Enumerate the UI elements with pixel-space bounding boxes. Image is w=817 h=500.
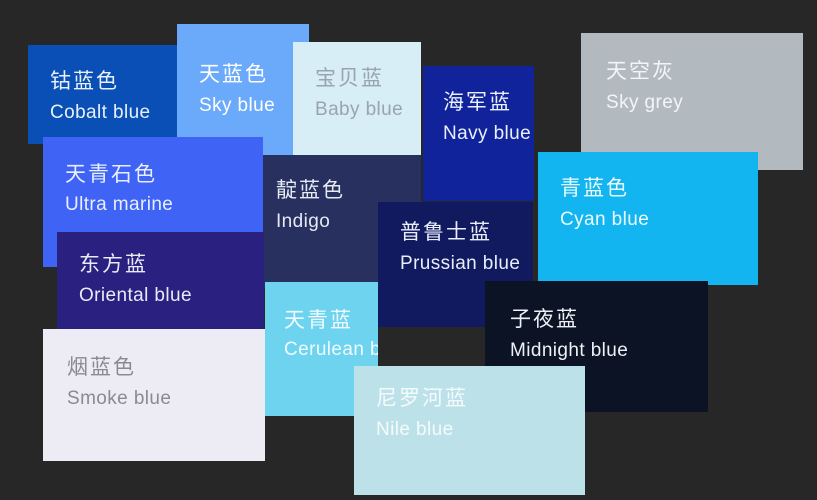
swatch-name-en: Ultra marine [65, 195, 173, 214]
swatch-name-en: Midnight blue [510, 341, 628, 360]
swatch-name-cn: 海军蓝 [443, 92, 512, 113]
swatch-name-cn: 天空灰 [606, 61, 675, 82]
swatch-name-cn: 天蓝色 [199, 64, 268, 85]
color-swatch-smoke-blue[interactable]: 烟蓝色Smoke blue [43, 329, 265, 461]
color-swatch-sky-grey[interactable]: 天空灰Sky grey [581, 33, 803, 170]
swatch-name-cn: 子夜蓝 [510, 309, 579, 330]
color-swatch-nile-blue[interactable]: 尼罗河蓝Nile blue [354, 366, 585, 495]
swatch-name-cn: 靛蓝色 [276, 180, 345, 201]
swatch-name-en: Nile blue [376, 420, 454, 439]
swatch-name-cn: 东方蓝 [79, 254, 148, 275]
swatch-name-en: Smoke blue [67, 389, 171, 408]
swatch-name-cn: 烟蓝色 [67, 357, 136, 378]
swatch-name-en: Sky grey [606, 93, 683, 112]
swatch-name-cn: 尼罗河蓝 [376, 388, 468, 409]
swatch-name-en: Indigo [276, 212, 330, 231]
swatch-name-cn: 青蓝色 [560, 178, 629, 199]
swatch-name-en: Navy blue [443, 124, 531, 143]
swatch-name-cn: 天青石色 [65, 164, 157, 185]
swatch-name-en: Oriental blue [79, 286, 192, 305]
swatch-name-cn: 钴蓝色 [50, 71, 119, 92]
swatch-name-en: Cyan blue [560, 210, 649, 229]
color-swatch-cyan-blue[interactable]: 青蓝色Cyan blue [538, 152, 758, 285]
swatch-name-en: Prussian blue [400, 254, 520, 273]
color-swatch-cobalt-blue[interactable]: 钴蓝色Cobalt blue [28, 45, 180, 144]
swatch-name-cn: 天青蓝 [284, 310, 353, 331]
swatch-name-cn: 普鲁士蓝 [400, 222, 492, 243]
color-swatch-baby-blue[interactable]: 宝贝蓝Baby blue [293, 42, 421, 173]
swatch-name-en: Sky blue [199, 96, 275, 115]
color-swatch-navy-blue[interactable]: 海军蓝Navy blue [423, 66, 534, 201]
swatch-name-en: Cobalt blue [50, 103, 151, 122]
color-palette-canvas: 钴蓝色Cobalt blue天蓝色Sky blue宝贝蓝Baby blue海军蓝… [0, 0, 817, 500]
swatch-name-en: Baby blue [315, 100, 403, 119]
swatch-name-cn: 宝贝蓝 [315, 68, 384, 89]
swatch-name-en: Cerulean blue [284, 340, 378, 359]
